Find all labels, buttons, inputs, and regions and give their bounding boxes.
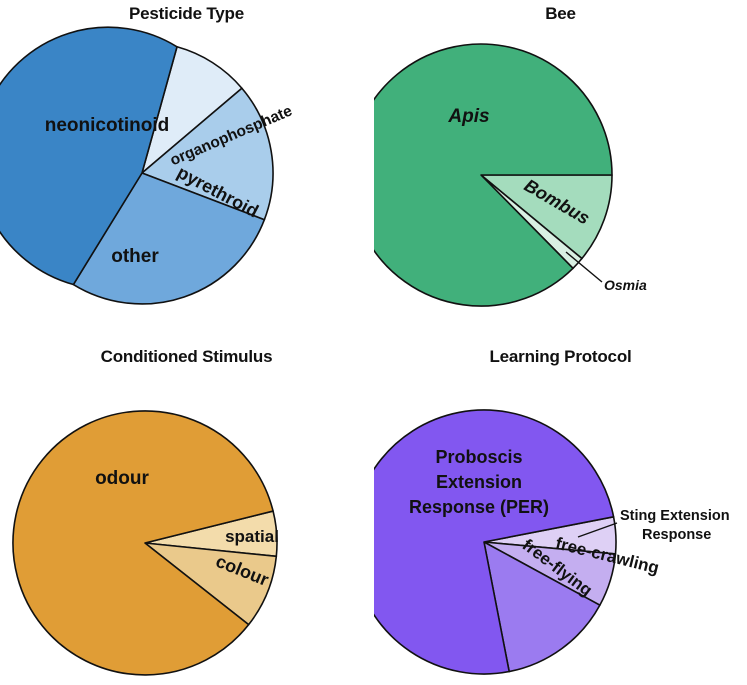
pie-chart-conditioned-stimulus: odour spatial colour <box>0 343 373 685</box>
wedge-label-other: other <box>111 246 159 267</box>
wedge-label-spatial: spatial <box>225 527 279 546</box>
panel-bee: Bee Apis Bombus Osmia <box>374 0 747 342</box>
panel-learning-protocol: Learning Protocol Proboscis Extension Re… <box>374 343 747 685</box>
callout-label-ser-line2: Response <box>642 527 711 543</box>
wedge-label-neonicotinoid: neonicotinoid <box>45 115 170 136</box>
panel-conditioned-stimulus: Conditioned Stimulus odour spatial colou… <box>0 343 373 685</box>
wedge-label-per-line1: Proboscis <box>435 447 522 467</box>
wedge-label-apis: Apis <box>447 106 489 127</box>
pie-slice-apis[interactable] <box>374 44 612 306</box>
wedge-label-per-line3: Response (PER) <box>409 497 549 517</box>
panel-pesticide-type: Pesticide Type neonicotinoid organophosp… <box>0 0 373 342</box>
pie-chart-bee: Apis Bombus Osmia <box>374 0 747 342</box>
wedge-label-per-line2: Extension <box>436 472 522 492</box>
callout-label-ser-line1: Sting Extension <box>620 508 730 524</box>
wedge-label-odour: odour <box>95 468 149 489</box>
pie-chart-learning-protocol: Proboscis Extension Response (PER) Sting… <box>374 343 747 685</box>
callout-label-osmia: Osmia <box>604 277 647 293</box>
figure-canvas: Pesticide Type neonicotinoid organophosp… <box>0 0 747 685</box>
pie-chart-pesticide-type: neonicotinoid organophosphate pyrethroid… <box>0 0 373 342</box>
